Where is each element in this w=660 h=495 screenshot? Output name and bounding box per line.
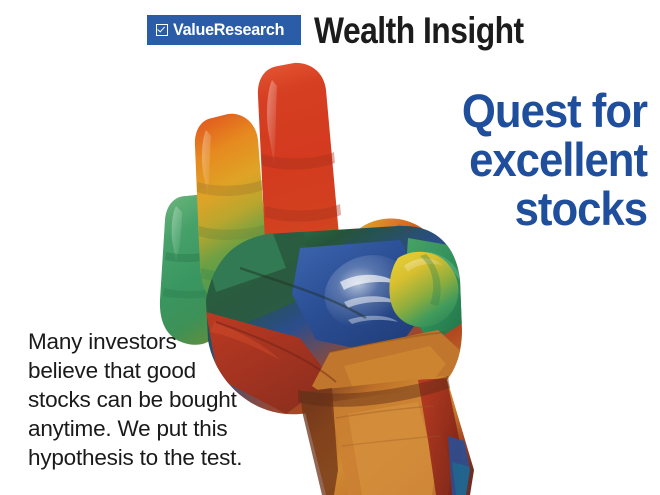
magazine-cover-page: ValueResearch Wealth Insight Quest for e… [0, 0, 660, 495]
brand-name-label: ValueResearch [173, 20, 284, 39]
checkbox-checked-icon [156, 24, 168, 36]
headline-line-3: stocks [340, 184, 647, 233]
hand-pinky-finger [160, 194, 231, 345]
headline-line-2: excellent [340, 135, 647, 184]
value-research-logo[interactable]: ValueResearch [147, 15, 301, 45]
hand-thumb [389, 252, 458, 327]
masthead: ValueResearch Wealth Insight [147, 8, 558, 52]
cover-headline: Quest for excellent stocks [317, 86, 647, 233]
headline-line-1: Quest for [340, 86, 647, 135]
deck-line-2: believe that good [28, 356, 253, 385]
hand-wrist [298, 376, 474, 495]
deck-line-5: hypothesis to the test. [28, 443, 253, 472]
deck-line-4: anytime. We put this [28, 414, 253, 443]
cover-deck-text: Many investors believe that good stocks … [28, 327, 253, 472]
magazine-title: Wealth Insight [314, 12, 524, 49]
deck-line-3: stocks can be bought [28, 385, 253, 414]
hand-ring-finger [195, 114, 268, 310]
deck-line-1: Many investors [28, 327, 253, 356]
